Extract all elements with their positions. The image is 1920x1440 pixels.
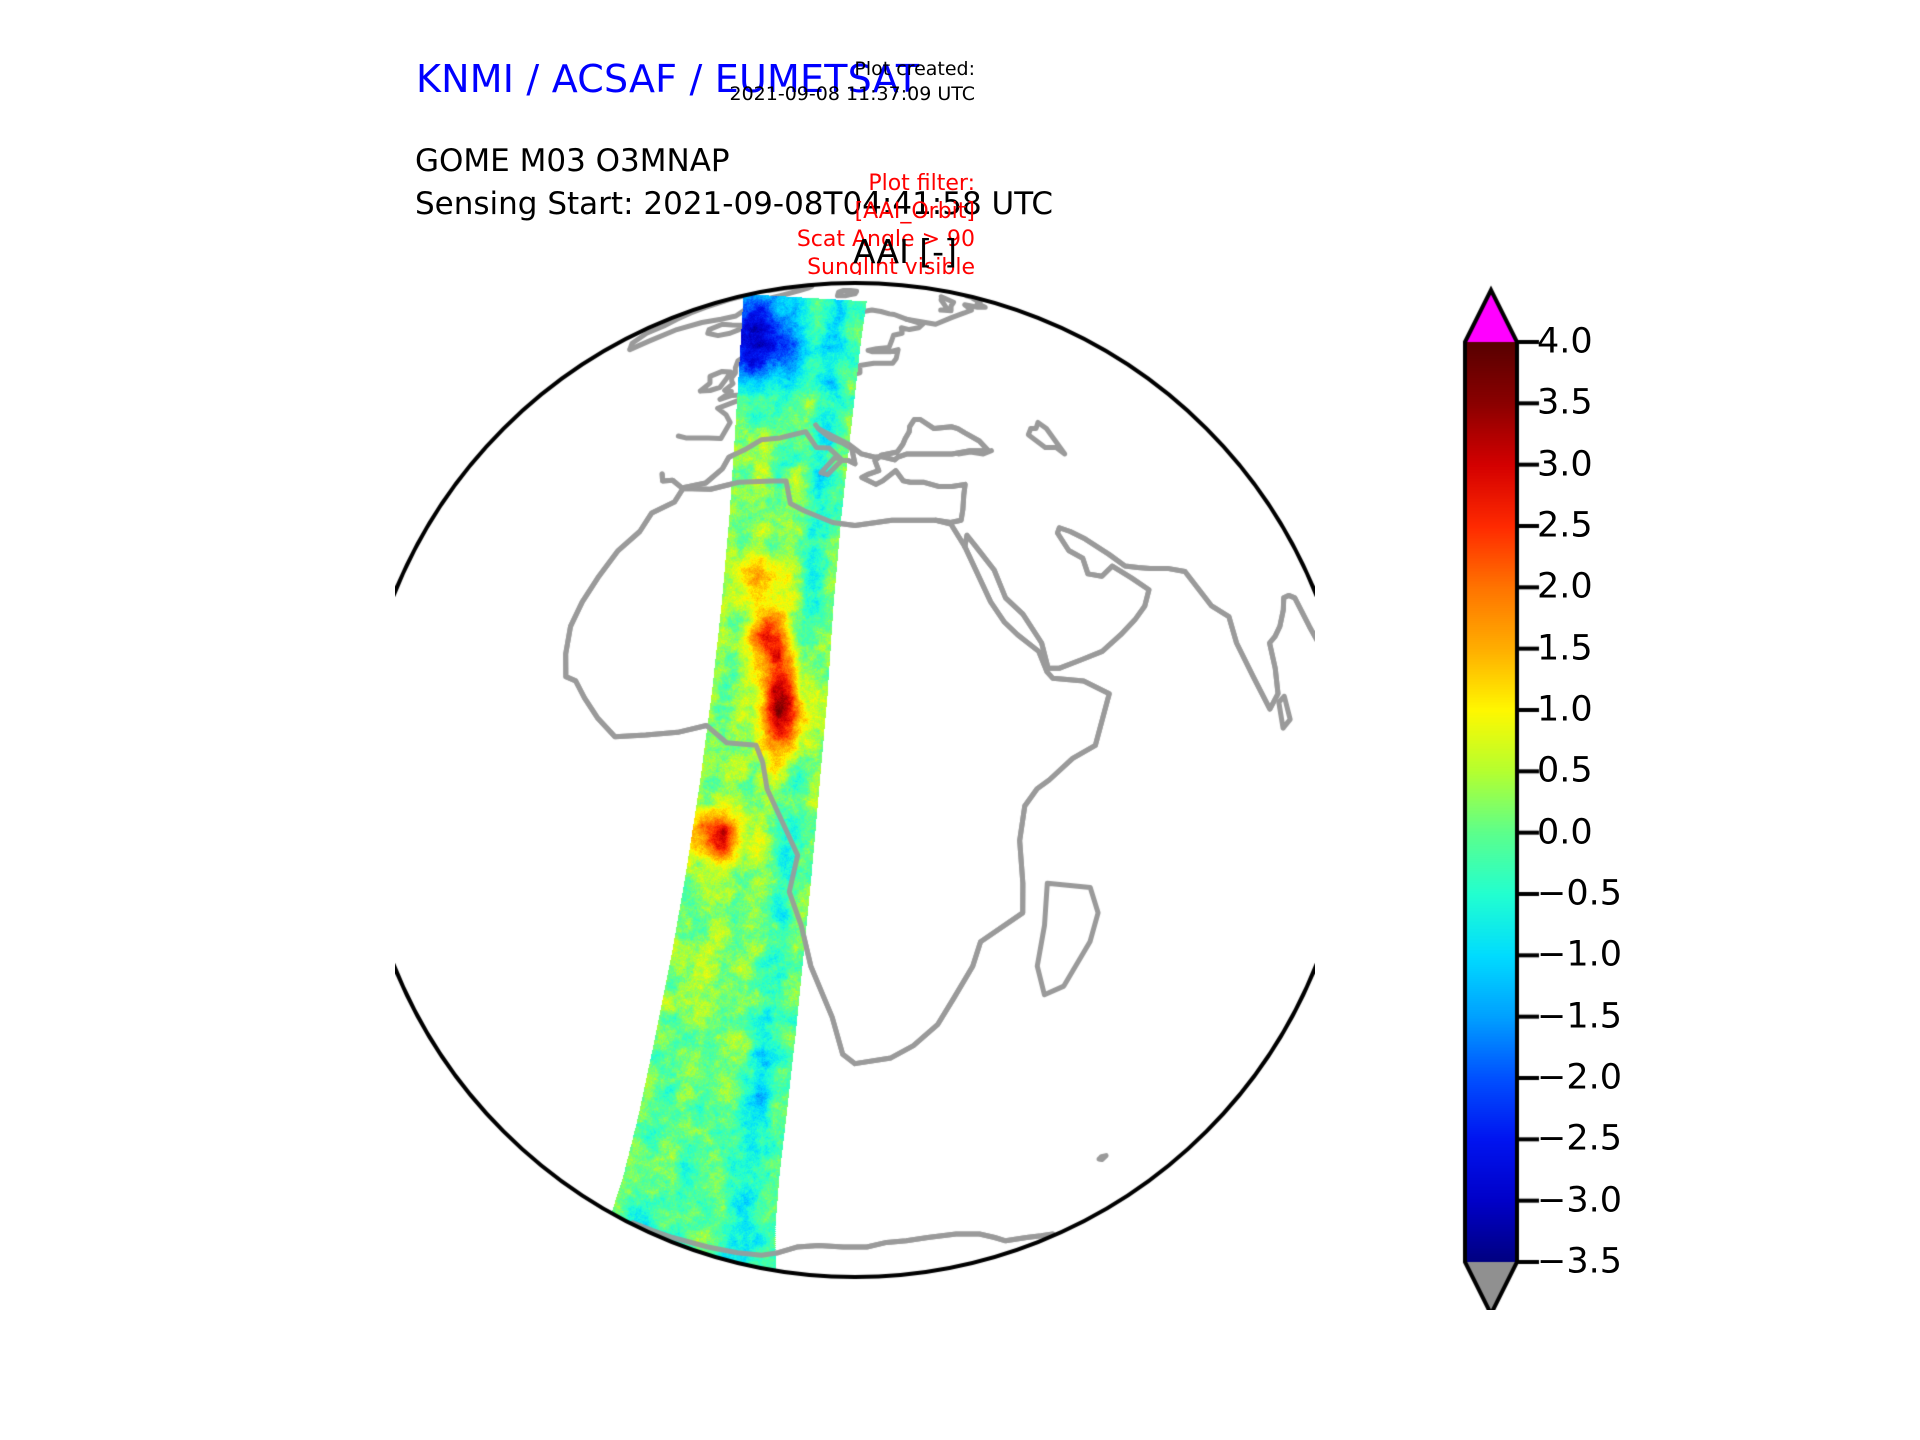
colorbar-tick-label: −2.5 (1537, 1122, 1622, 1157)
colorbar-tick-label: 4.0 (1537, 325, 1593, 360)
colorbar-tick-labels: 4.03.53.02.52.01.51.00.50.0−0.5−1.0−1.5−… (1537, 280, 1767, 1310)
colorbar-tick-label: −0.5 (1537, 877, 1622, 912)
plot-created-timestamp: 2021-09-08 11:37:09 UTC (730, 82, 976, 107)
colorbar-tick-label: −3.0 (1537, 1183, 1622, 1218)
page-title: AAI [-] (0, 232, 1810, 271)
colorbar-tick-label: 0.5 (1537, 754, 1593, 789)
colorbar-tick-label: −1.0 (1537, 938, 1622, 973)
plot-created-label: Plot created: (730, 57, 976, 82)
colorbar: 4.03.53.02.52.01.51.00.50.0−0.5−1.0−1.5−… (1445, 280, 1775, 1310)
plot-filter-variable: [AAI_Orbit] (797, 198, 975, 226)
colorbar-tick-label: 2.0 (1537, 570, 1593, 605)
colorbar-tick-label: −1.5 (1537, 999, 1622, 1034)
globe-map-canvas (395, 275, 1315, 1285)
colorbar-tick-label: −2.0 (1537, 1061, 1622, 1096)
colorbar-tick-label: 2.5 (1537, 509, 1593, 544)
colorbar-tick-label: 1.5 (1537, 631, 1593, 666)
globe-map (395, 275, 1315, 1285)
colorbar-tick-label: 3.5 (1537, 386, 1593, 421)
plot-created-block: Plot created: 2021-09-08 11:37:09 UTC (730, 57, 976, 107)
plot-filter-title: Plot filter: (797, 170, 975, 198)
colorbar-tick-label: 3.0 (1537, 447, 1593, 482)
colorbar-tick-label: 1.0 (1537, 693, 1593, 728)
colorbar-tick-label: −3.5 (1537, 1245, 1622, 1280)
colorbar-tick-label: 0.0 (1537, 815, 1593, 850)
